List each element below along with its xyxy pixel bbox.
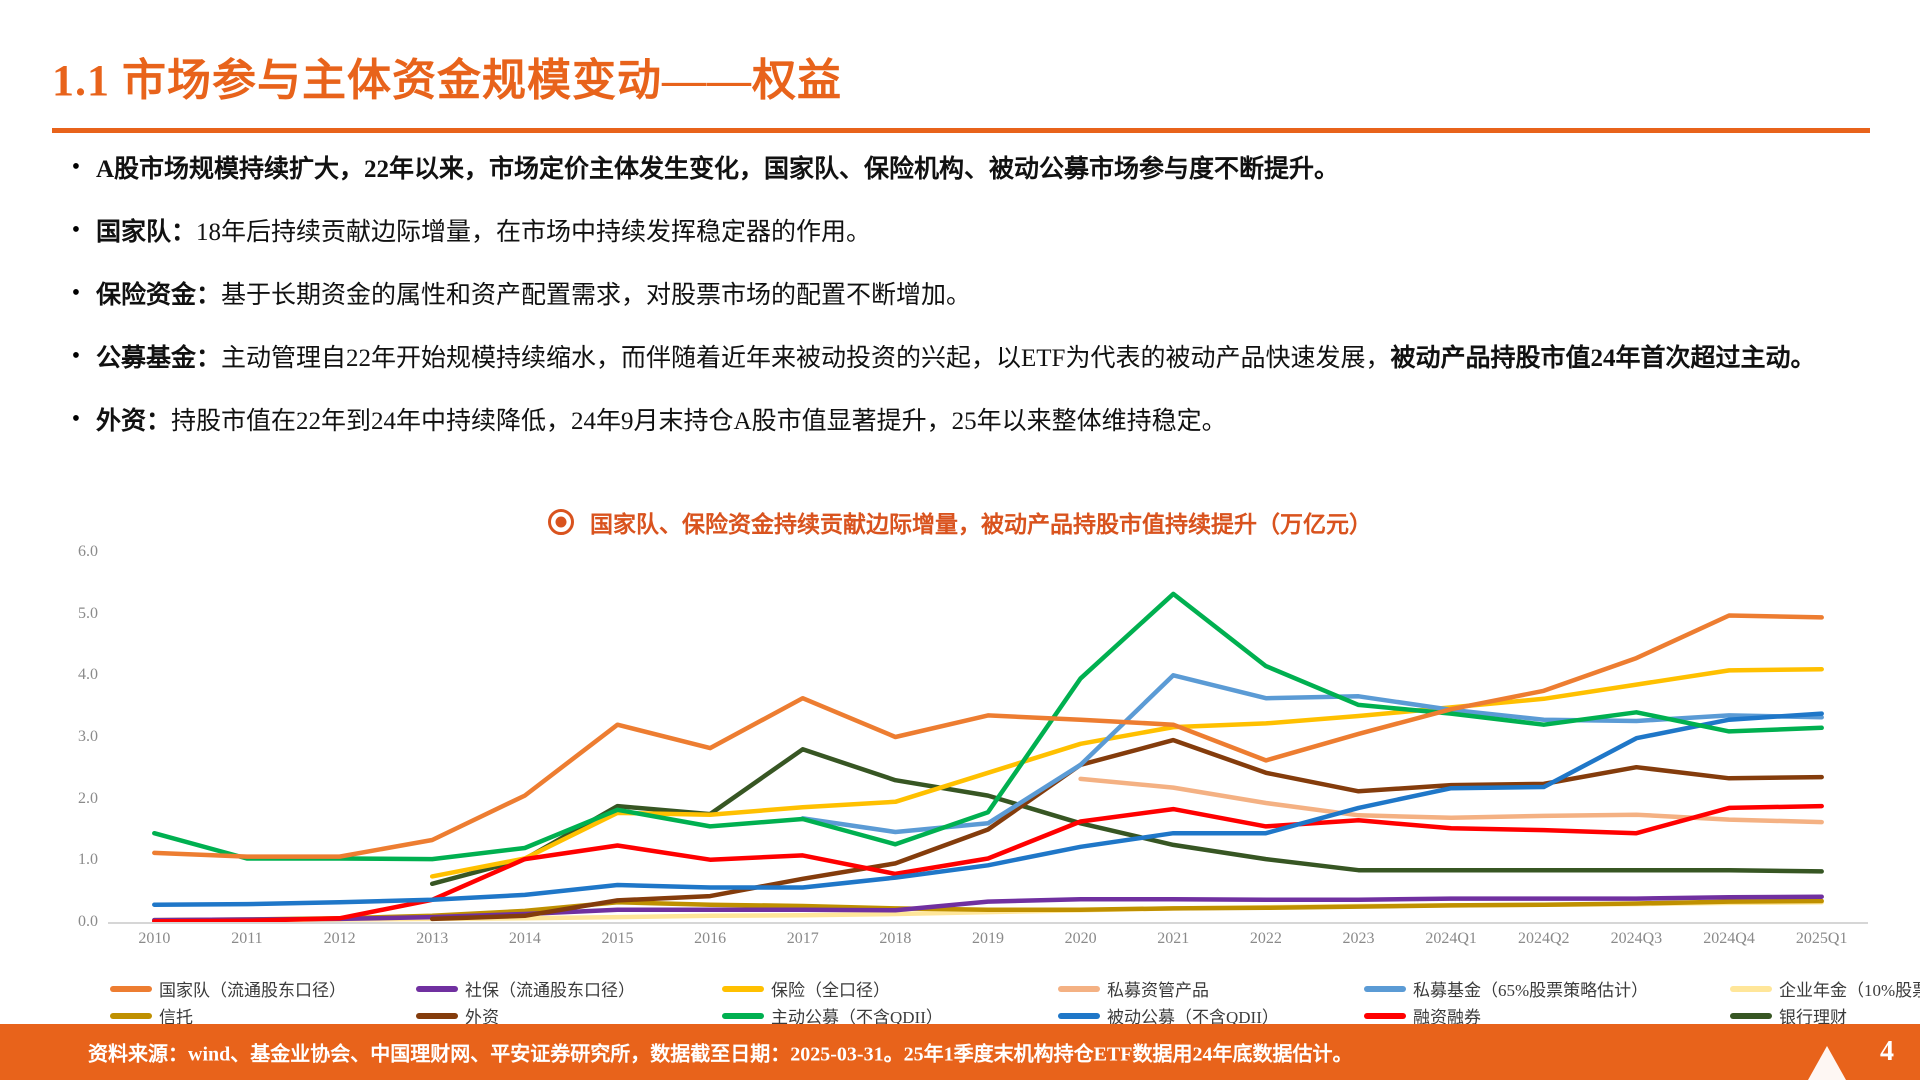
y-axis-tick-label: 4.0 — [78, 666, 98, 684]
bullet-lead-label: 外资： — [96, 408, 171, 435]
x-axis-labels: 2010201120122013201420152016201720182019… — [108, 930, 1868, 960]
y-axis-labels: 0.01.02.03.04.05.06.0 — [52, 552, 98, 922]
legend-color-swatch — [110, 986, 152, 992]
page-number: 4 — [1880, 1036, 1894, 1068]
bullet-text: 外资：持股市值在22年到24年中持续降低，24年9月末持仓A股市值显著提升，25… — [96, 400, 1876, 444]
x-axis-tick-label: 2024Q1 — [1425, 930, 1477, 948]
legend-label: 私募基金（65%股票策略估计） — [1413, 976, 1648, 1001]
legend-color-swatch — [1730, 986, 1772, 992]
x-axis-tick-label: 2024Q4 — [1703, 930, 1755, 948]
chart-series-line — [154, 594, 1821, 859]
bullet-marker-icon: • — [56, 274, 96, 312]
bullet-emphasis-text: 被动产品持股市值24年首次超过主动。 — [1390, 345, 1815, 372]
brand-logo-icon — [1808, 1046, 1846, 1080]
x-axis-tick-label: 2017 — [787, 930, 819, 948]
x-axis-tick-label: 2021 — [1157, 930, 1189, 948]
bullet-marker-icon: • — [56, 211, 96, 249]
bullet-list: •A股市场规模持续扩大，22年以来，市场定价主体发生变化，国家队、保险机构、被动… — [56, 148, 1876, 463]
bullet-lead-label: 公募基金： — [96, 345, 221, 372]
x-axis-tick-label: 2019 — [972, 930, 1004, 948]
legend-color-swatch — [110, 1013, 152, 1019]
x-axis-tick-label: 2025Q1 — [1796, 930, 1848, 948]
bullet-text: 公募基金：主动管理自22年开始规模持续缩水，而伴随着近年来被动投资的兴起，以ET… — [96, 337, 1876, 381]
x-axis-line — [108, 922, 1868, 924]
bullet-marker-icon: • — [56, 337, 96, 375]
y-axis-tick-label: 6.0 — [78, 543, 98, 561]
x-axis-tick-label: 2023 — [1343, 930, 1375, 948]
bullet-marker-icon: • — [56, 148, 96, 186]
y-axis-tick-label: 2.0 — [78, 790, 98, 808]
source-note: 资料来源：wind、基金业协会、中国理财网、平安证券研究所，数据截至日期：202… — [88, 1038, 1352, 1067]
x-axis-tick-label: 2012 — [324, 930, 356, 948]
title-underline — [52, 128, 1870, 133]
chart-legend: 国家队（流通股东口径）社保（流通股东口径）保险（全口径）私募资管产品私募基金（6… — [110, 975, 1840, 1029]
chart-caption: 国家队、保险资金持续贡献边际增量，被动产品持股市值持续提升（万亿元） — [0, 505, 1920, 539]
line-chart: 0.01.02.03.04.05.06.0 201020112012201320… — [0, 552, 1920, 972]
legend-label: 私募资管产品 — [1107, 976, 1209, 1001]
chart-plot-area — [108, 552, 1868, 922]
chart-series-line — [432, 740, 1822, 919]
bullet-item: •公募基金：主动管理自22年开始规模持续缩水，而伴随着近年来被动投资的兴起，以E… — [56, 337, 1876, 381]
x-axis-tick-label: 2016 — [694, 930, 726, 948]
x-axis-tick-label: 2024Q2 — [1518, 930, 1570, 948]
y-axis-tick-label: 3.0 — [78, 728, 98, 746]
y-axis-tick-label: 5.0 — [78, 605, 98, 623]
legend-label: 社保（流通股东口径） — [465, 976, 635, 1001]
legend-color-swatch — [722, 1013, 764, 1019]
legend-color-swatch — [1730, 1013, 1772, 1019]
legend-item[interactable]: 私募资管产品 — [1058, 975, 1358, 1002]
legend-item[interactable]: 企业年金（10%股票中枢估计） — [1730, 975, 1920, 1002]
legend-item[interactable]: 保险（全口径） — [722, 975, 1052, 1002]
page-title: 1.1 市场参与主体资金规模变动——权益 — [52, 44, 842, 108]
legend-label: 保险（全口径） — [771, 976, 890, 1001]
x-axis-tick-label: 2022 — [1250, 930, 1282, 948]
legend-color-swatch — [1364, 986, 1406, 992]
bullet-marker-icon: • — [56, 400, 96, 438]
footer-bar: 资料来源：wind、基金业协会、中国理财网、平安证券研究所，数据截至日期：202… — [0, 1024, 1920, 1080]
bullet-item: •A股市场规模持续扩大，22年以来，市场定价主体发生变化，国家队、保险机构、被动… — [56, 148, 1876, 192]
bullet-item: •外资：持股市值在22年到24年中持续降低，24年9月末持仓A股市值显著提升，2… — [56, 400, 1876, 444]
legend-color-swatch — [1058, 986, 1100, 992]
legend-label: 国家队（流通股东口径） — [159, 976, 346, 1001]
legend-color-swatch — [416, 1013, 458, 1019]
slide-root: 1.1 市场参与主体资金规模变动——权益 •A股市场规模持续扩大，22年以来，市… — [0, 0, 1920, 1080]
x-axis-tick-label: 2018 — [879, 930, 911, 948]
bullet-text: A股市场规模持续扩大，22年以来，市场定价主体发生变化，国家队、保险机构、被动公… — [96, 148, 1876, 192]
x-axis-tick-label: 2014 — [509, 930, 541, 948]
bullet-text: 保险资金：基于长期资金的属性和资产配置需求，对股票市场的配置不断增加。 — [96, 274, 1876, 318]
x-axis-tick-label: 2013 — [416, 930, 448, 948]
target-dot-icon — [548, 509, 574, 535]
legend-color-swatch — [722, 986, 764, 992]
x-axis-tick-label: 2010 — [138, 930, 170, 948]
x-axis-tick-label: 2015 — [601, 930, 633, 948]
chart-caption-text: 国家队、保险资金持续贡献边际增量，被动产品持股市值持续提升（万亿元） — [590, 505, 1372, 539]
legend-item[interactable]: 社保（流通股东口径） — [416, 975, 716, 1002]
y-axis-tick-label: 1.0 — [78, 851, 98, 869]
x-axis-tick-label: 2020 — [1065, 930, 1097, 948]
legend-item[interactable]: 私募基金（65%股票策略估计） — [1364, 975, 1724, 1002]
x-axis-tick-label: 2011 — [231, 930, 262, 948]
chart-series-line — [154, 616, 1821, 857]
bullet-text: 国家队：18年后持续贡献边际增量，在市场中持续发挥稳定器的作用。 — [96, 211, 1876, 255]
x-axis-tick-label: 2024Q3 — [1611, 930, 1663, 948]
legend-color-swatch — [1364, 1013, 1406, 1019]
bullet-item: •国家队：18年后持续贡献边际增量，在市场中持续发挥稳定器的作用。 — [56, 211, 1876, 255]
bullet-lead-label: 保险资金： — [96, 282, 221, 309]
legend-item[interactable]: 国家队（流通股东口径） — [110, 975, 410, 1002]
bullet-lead-label: 国家队： — [96, 219, 196, 246]
legend-color-swatch — [416, 986, 458, 992]
y-axis-tick-label: 0.0 — [78, 913, 98, 931]
chart-lines — [108, 552, 1868, 922]
legend-color-swatch — [1058, 1013, 1100, 1019]
bullet-item: •保险资金：基于长期资金的属性和资产配置需求，对股票市场的配置不断增加。 — [56, 274, 1876, 318]
legend-label: 企业年金（10%股票中枢估计） — [1779, 976, 1920, 1001]
